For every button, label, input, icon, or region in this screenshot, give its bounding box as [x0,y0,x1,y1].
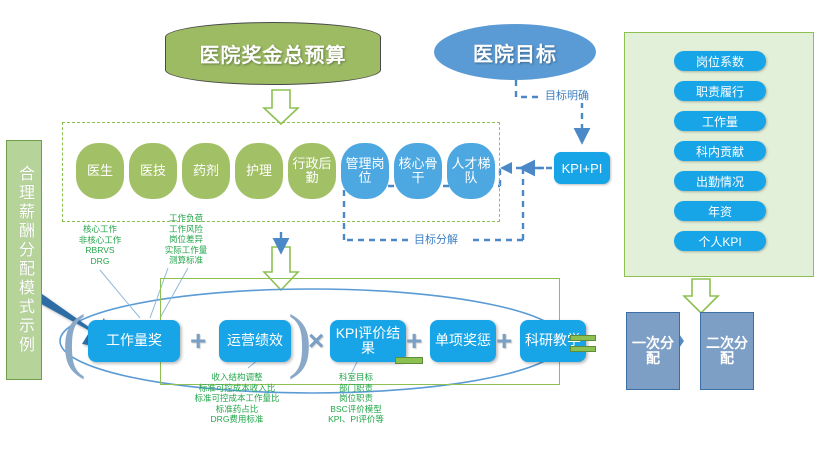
annotation-line: KPI、PI评价等 [300,414,412,425]
indicator-post-coefficient[interactable]: 岗位系数 [674,51,766,71]
indicator-seniority[interactable]: 年资 [674,201,766,221]
role-pill-admin[interactable]: 行政后勤 [288,143,336,199]
role-label: 护理 [246,164,272,178]
open-bracket: ( [62,300,86,380]
indicator-label: 工作量 [702,113,738,130]
operator-plus-2: + [406,326,422,356]
left-banner-label: 合理薪酬分配模式示例 [16,165,32,355]
formula-box-label: 运营绩效 [227,333,283,348]
formula-box-operating-performance[interactable]: 运营绩效 [219,320,291,362]
equals-bar-bottom [570,346,596,352]
dashed-arrowhead-roles [500,162,512,174]
hospital-goal-label: 医院目标 [473,38,557,67]
operator-plus-1: + [190,326,206,356]
annotation-line: 标准可控成本工作量比 [152,393,322,404]
indicator-label: 出勤情况 [696,173,744,190]
annotation-line: DRG费用标准 [152,414,322,425]
kpi-green-bar [395,357,423,364]
annotation-line: BSC评价模型 [300,404,412,415]
budget-cylinder-label: 医院奖金总预算 [200,39,347,68]
indicator-duty-fulfillment[interactable]: 职责履行 [674,81,766,101]
arrow-panel-to-second-alloc [684,279,718,313]
indicator-workload[interactable]: 工作量 [674,111,766,131]
equals-bar-top [570,335,596,341]
indicator-label: 个人KPI [698,233,741,250]
indicator-dept-contribution[interactable]: 科内贡献 [674,141,766,161]
annotation-workload: 工作负荷 工作风险 岗位差异 实际工作量 测算标准 [140,213,232,266]
annotation-line: 科室目标 [300,372,412,383]
role-label: 医技 [140,164,166,178]
indicator-label: 职责履行 [696,83,744,100]
hospital-goal-ellipse[interactable]: 医院目标 [434,24,596,80]
role-pill-medtech[interactable]: 医技 [129,143,177,199]
role-pill-nursing[interactable]: 护理 [235,143,283,199]
first-allocation-label: 一次分配 [627,336,679,367]
role-label: 行政后勤 [288,157,336,184]
indicator-label: 科内贡献 [696,143,744,160]
formula-box-workload-bonus[interactable]: 工作量奖 [88,320,180,362]
role-label: 医生 [87,164,113,178]
first-allocation-box[interactable]: 一次分配 [626,312,680,390]
diagram-canvas: 合理薪酬分配模式示例 医院奖金总预算 医院目标 医生 医技 药剂 护理 行政后勤… [0,0,820,454]
annotation-line: 实际工作量 [140,245,232,256]
formula-box-kpi-result[interactable]: KPI评价结果 [330,320,406,362]
annotation-core-work: 核心工作 非核心工作 RBRVS DRG [60,224,140,266]
operator-plus-3: + [496,326,512,356]
role-label: 药剂 [193,164,219,178]
formula-box-label: 单项奖惩 [435,333,491,348]
role-pill-talent[interactable]: 人才梯队 [447,143,495,199]
individual-indicator-panel: 岗位系数 职责履行 工作量 科内贡献 出勤情况 年资 个人KPI [624,32,814,277]
annotation-operation: 收入结构调整 标准可控成本收入比 标准可控成本工作量比 标准药占比 DRG费用标… [152,372,322,425]
annotation-line: DRG [60,256,140,267]
budget-cylinder[interactable]: 医院奖金总预算 [165,22,381,85]
annotation-line: 岗位差异 [140,234,232,245]
indicator-personal-kpi[interactable]: 个人KPI [674,231,766,251]
arrow-budget-to-roles [264,90,298,124]
annotation-line: 标准可控成本收入比 [152,383,322,394]
annotation-line: 收入结构调整 [152,372,322,383]
label-goal-clear: 目标明确 [543,87,591,103]
annotation-line: RBRVS [60,245,140,256]
annotation-line: 部门职责 [300,383,412,394]
role-pill-core-staff[interactable]: 核心骨干 [394,143,442,199]
annotation-line: 非核心工作 [60,235,140,246]
indicator-attendance[interactable]: 出勤情况 [674,171,766,191]
formula-box-research-teaching[interactable]: 科研教学 [520,320,586,362]
annotation-line: 工作负荷 [140,213,232,224]
operator-times: × [308,326,324,356]
role-label: 核心骨干 [394,157,442,184]
annotation-line: 岗位职责 [300,393,412,404]
role-label: 人才梯队 [447,157,495,184]
kpi-pi-label: KPI+PI [562,161,603,176]
role-pill-pharmacy[interactable]: 药剂 [182,143,230,199]
annotation-line: 工作风险 [140,224,232,235]
role-pill-doctor[interactable]: 医生 [76,143,124,199]
label-goal-breakdown: 目标分解 [412,231,460,247]
formula-box-single-reward[interactable]: 单项奖惩 [430,320,496,362]
annotation-line: 测算标准 [140,255,232,266]
role-label: 管理岗位 [341,157,389,184]
annotation-kpi: 科室目标 部门职责 岗位职责 BSC评价模型 KPI、PI评价等 [300,372,412,425]
left-banner: 合理薪酬分配模式示例 [6,140,42,380]
indicator-label: 岗位系数 [696,53,744,70]
kpi-pi-node[interactable]: KPI+PI [554,152,610,184]
formula-box-label: 工作量奖 [106,333,162,348]
annotation-line: 核心工作 [60,224,140,235]
second-allocation-label: 二次分配 [701,336,753,367]
indicator-label: 年资 [708,203,732,220]
annotation-line: 标准药占比 [152,404,322,415]
formula-box-label: KPI评价结果 [330,326,406,356]
second-allocation-box[interactable]: 二次分配 [700,312,754,390]
role-pill-management[interactable]: 管理岗位 [341,143,389,199]
